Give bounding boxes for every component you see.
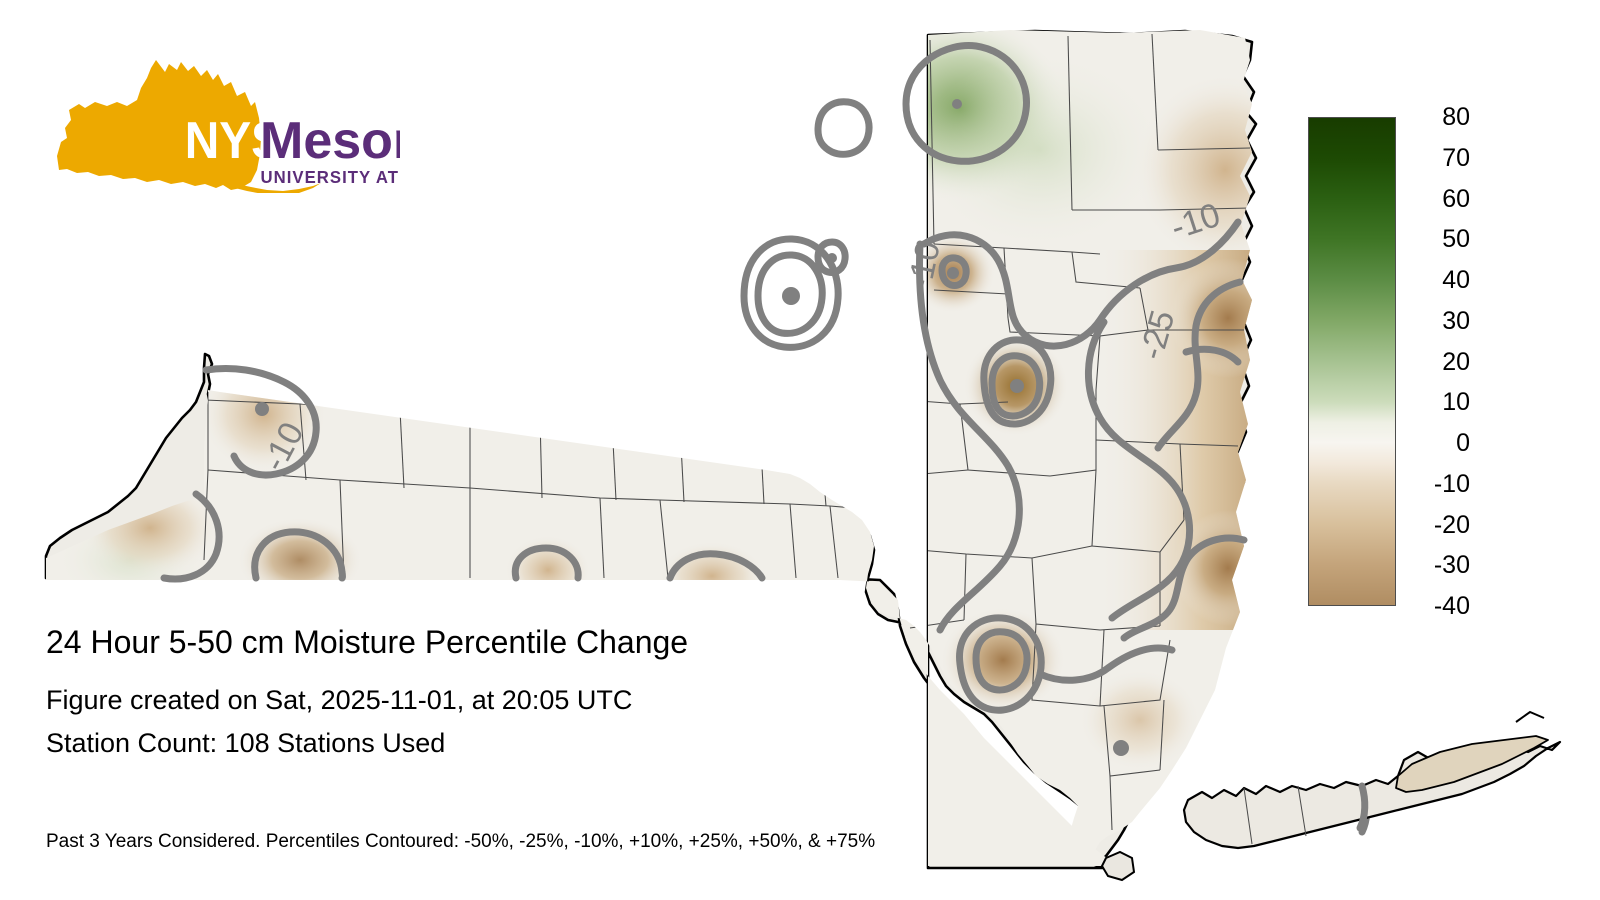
colorbar-tick-30: 30: [1408, 307, 1470, 335]
station-marker: [1113, 740, 1129, 756]
colorbar-tick-60: 60: [1408, 185, 1470, 213]
colorbar-gradient: [1308, 117, 1396, 606]
county-line: [600, 344, 606, 422]
vermont-edge-hint: [1516, 712, 1544, 722]
county-line: [700, 300, 704, 382]
county-line: [680, 348, 682, 426]
colorbar-tick-neg30: -30: [1408, 551, 1470, 579]
station-marker: [1010, 379, 1024, 393]
colorbar-tick-10: 10: [1408, 388, 1470, 416]
county-line: [820, 434, 900, 444]
anomaly-blob-st-lawrence: [920, 55, 1160, 245]
colorbar-tick-40: 40: [1408, 266, 1470, 294]
colorbar-tick-80: 80: [1408, 103, 1470, 131]
anomaly-blob-columbia: [1170, 258, 1286, 378]
station-marker: [947, 267, 959, 279]
moisture-percentile-map: -10 -10 -10 -25: [0, 0, 1290, 900]
colorbar-tick-neg20: -20: [1408, 511, 1470, 539]
county-line: [820, 356, 824, 434]
county-line: [680, 426, 820, 434]
county-line: [860, 236, 864, 312]
station-marker: [255, 402, 269, 416]
station-marker: [952, 99, 962, 109]
colorbar-tick-0: 0: [1408, 429, 1470, 457]
colorbar-tick-labels: 80706050403020100-10-20-30-40: [1408, 103, 1558, 623]
county-line: [540, 418, 680, 426]
colorbar-tick-50: 50: [1408, 225, 1470, 253]
colorbar-tick-70: 70: [1408, 144, 1470, 172]
colorbar-tick-neg40: -40: [1408, 592, 1470, 620]
contour--10: [818, 102, 869, 155]
colorbar-tick-20: 20: [1408, 348, 1470, 376]
footnote-contour-levels: Past 3 Years Considered. Percentiles Con…: [46, 830, 875, 854]
anomaly-blob-mid-hudson: [1080, 670, 1200, 770]
colorbar: 80706050403020100-10-20-30-40: [1308, 117, 1568, 612]
station-count-line: Station Count: 108 Stations Used: [46, 726, 1046, 760]
county-line: [700, 222, 930, 244]
colorbar-tick-neg10: -10: [1408, 470, 1470, 498]
county-line: [400, 410, 540, 418]
title-block: 24 Hour 5-50 cm Moisture Percentile Chan…: [46, 622, 1046, 760]
anomaly-blob-finger-lakes-green: [605, 330, 775, 450]
figure-created-timestamp: Figure created on Sat, 2025-11-01, at 20…: [46, 683, 1046, 717]
county-line: [760, 352, 762, 430]
page-title: 24 Hour 5-50 cm Moisture Percentile Chan…: [46, 622, 1046, 662]
station-marker: [827, 253, 837, 263]
station-marker: [782, 287, 800, 305]
